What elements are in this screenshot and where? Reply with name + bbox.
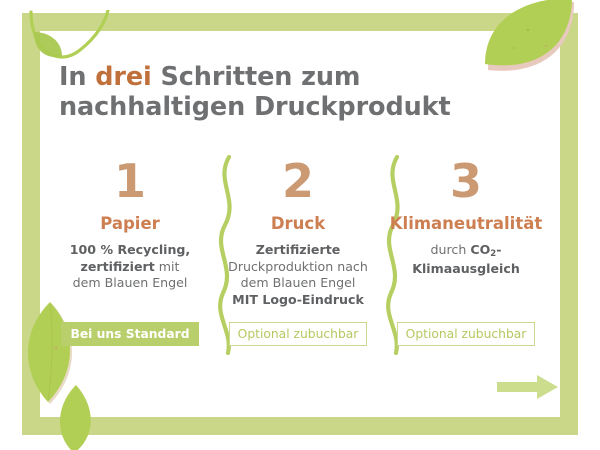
infographic-poster: In drei Schritten zum nachhaltigen Druck… xyxy=(0,0,600,450)
step-description: 100 % Recycling,zertifiziert mitdem Blau… xyxy=(46,242,214,292)
step-number: 2 xyxy=(214,155,382,211)
step-description: ZertifizierteDruckproduktion nachdem Bla… xyxy=(214,242,382,308)
step-badge-slot: Optional zubuchbar xyxy=(382,322,550,346)
step-number: 1 xyxy=(46,155,214,211)
step-title: Klimaneutralität xyxy=(382,214,550,234)
step-description: durch CO2-Klimaausgleich xyxy=(382,242,550,277)
step-title: Druck xyxy=(214,214,382,234)
steps-container: 1 Papier 100 % Recycling,zertifiziert mi… xyxy=(46,155,554,355)
headline-accent: drei xyxy=(95,62,151,92)
step-badge-slot: Optional zubuchbar xyxy=(214,322,382,346)
step-column-3: 3 Klimaneutralität durch CO2-Klimaausgle… xyxy=(382,155,550,277)
status-badge[interactable]: Optional zubuchbar xyxy=(229,322,368,346)
step-title: Papier xyxy=(46,214,214,234)
page-title: In drei Schritten zum nachhaltigen Druck… xyxy=(59,62,529,122)
headline-line2: nachhaltigen Druckprodukt xyxy=(59,92,451,122)
step-number: 3 xyxy=(382,155,550,211)
headline-line1-after: Schritten zum xyxy=(152,62,361,92)
headline-line1-before: In xyxy=(59,62,95,92)
step-column-2: 2 Druck ZertifizierteDruckproduktion nac… xyxy=(214,155,382,308)
arrow-right-icon[interactable] xyxy=(497,374,559,404)
status-badge[interactable]: Optional zubuchbar xyxy=(397,322,536,346)
status-badge[interactable]: Bei uns Standard xyxy=(61,322,198,346)
step-badge-slot: Bei uns Standard xyxy=(46,322,214,346)
step-column-1: 1 Papier 100 % Recycling,zertifiziert mi… xyxy=(46,155,214,292)
